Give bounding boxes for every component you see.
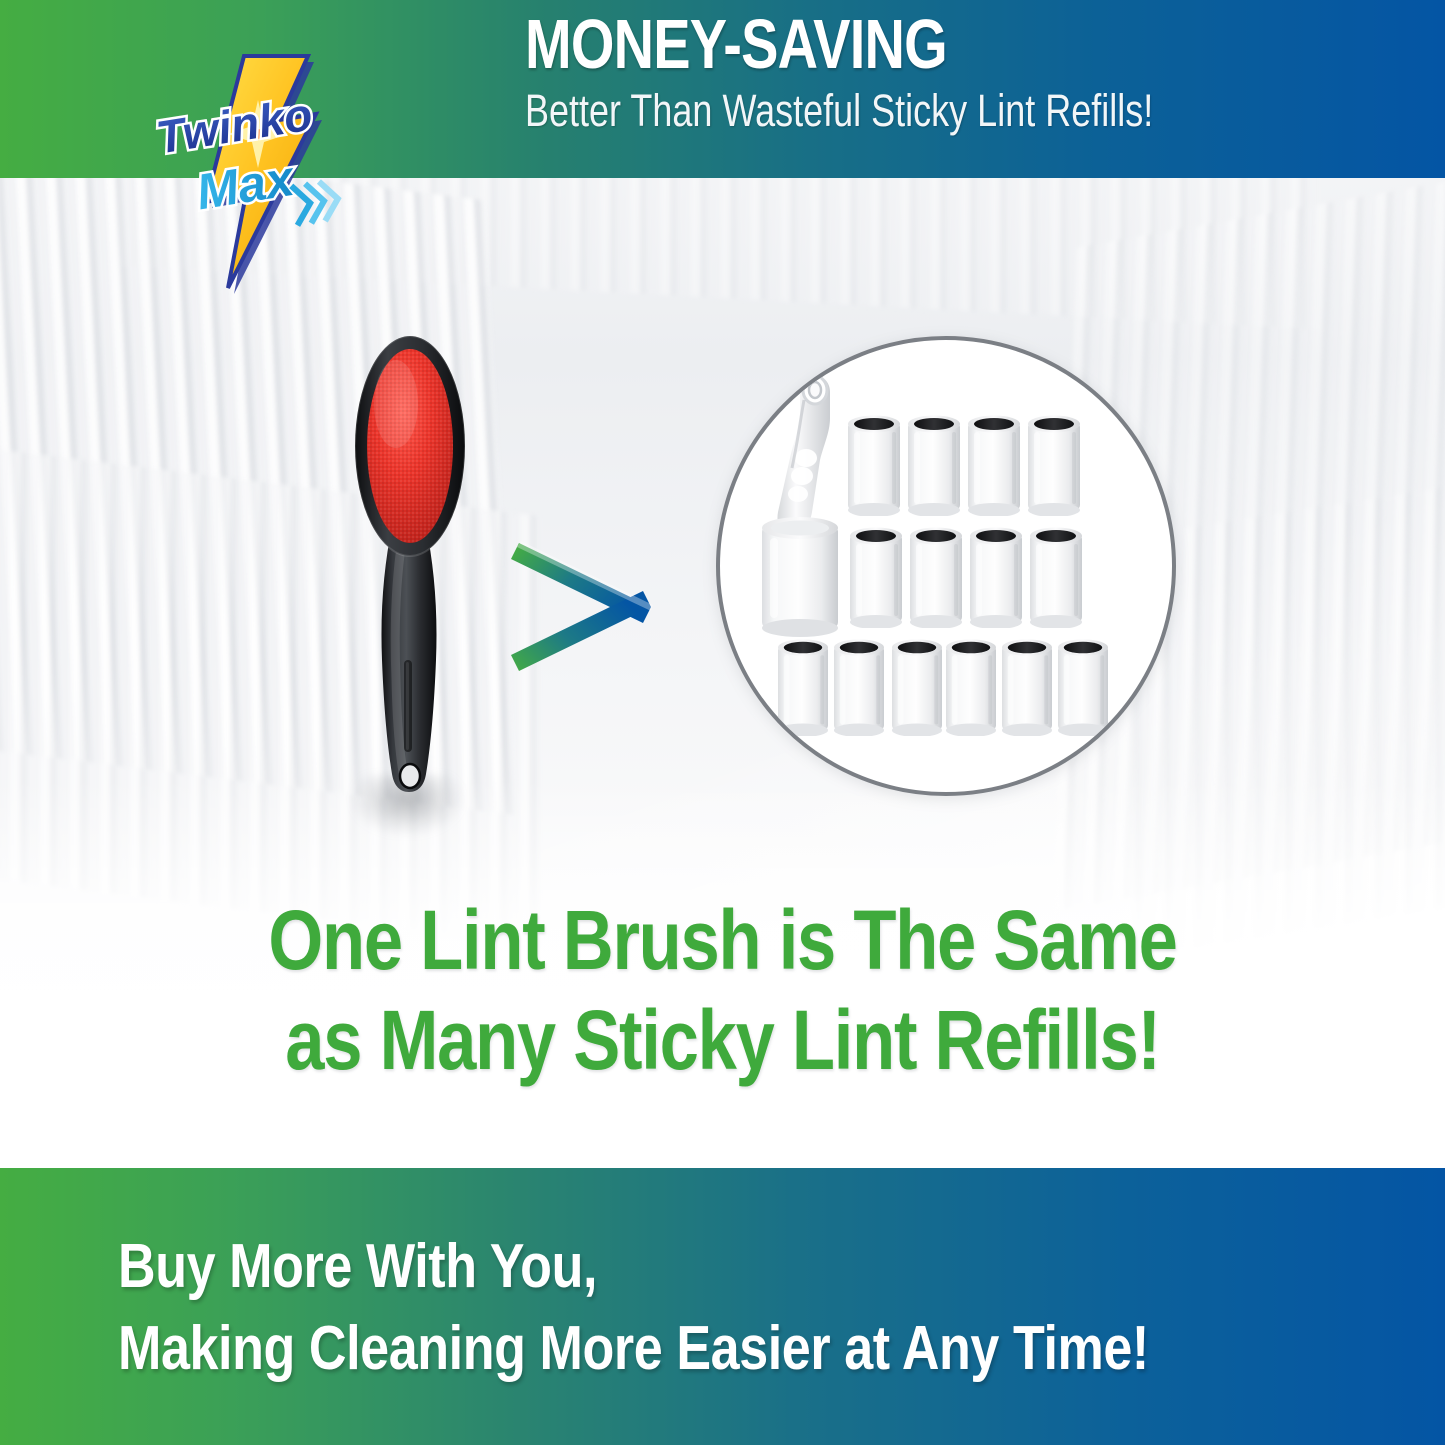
lint-refills-illustration [720, 340, 1172, 792]
refill-roll [946, 639, 996, 737]
brush-handle [381, 526, 436, 792]
cta-line-2: Making Cleaning More Easier at Any Time! [118, 1308, 1210, 1390]
refill-roll [834, 639, 884, 737]
logo-speed-streaks-icon [291, 179, 341, 225]
twinko-max-logo-icon: Twinko Max [140, 42, 365, 297]
refill-roll [970, 528, 1022, 630]
headline-line-2: as Many Sticky Lint Refills! [116, 990, 1330, 1090]
refill-roll [1030, 528, 1082, 630]
brand-logo: Twinko Max [140, 42, 365, 297]
refill-row-1 [848, 416, 1080, 518]
page-title: MONEY-SAVING [525, 8, 1181, 80]
refill-row-3 [778, 639, 1108, 737]
header-text-block: MONEY-SAVING Better Than Wasteful Sticky… [525, 8, 1345, 136]
refill-roll [1028, 416, 1080, 518]
refill-roll [910, 528, 962, 630]
headline-line-1: One Lint Brush is The Same [116, 890, 1330, 990]
refill-roll [1002, 639, 1052, 737]
refill-roll [778, 639, 828, 737]
refill-row-2 [850, 528, 1082, 630]
logo-brand-line2: Max [193, 150, 300, 221]
product-marketing-poster: MONEY-SAVING Better Than Wasteful Sticky… [0, 0, 1445, 1445]
refill-roll [1058, 639, 1108, 737]
refill-roll [848, 416, 900, 518]
page-subtitle: Better Than Wasteful Sticky Lint Refills… [525, 86, 1181, 136]
greater-than-chevron-icon [505, 515, 695, 700]
lint-brush-image [330, 330, 490, 810]
cta-line-1: Buy More With You, [118, 1226, 1210, 1308]
refill-roll [968, 416, 1020, 518]
refill-roll [850, 528, 902, 630]
refill-roll [908, 416, 960, 518]
lint-roller-with-handle [762, 376, 838, 637]
refills-circle-inset [716, 336, 1176, 796]
main-headline: One Lint Brush is The Same as Many Stick… [0, 890, 1445, 1090]
footer-cta-banner: Buy More With You, Making Cleaning More … [0, 1168, 1445, 1445]
refill-roll [892, 639, 942, 737]
footer-cta-text-block: Buy More With You, Making Cleaning More … [118, 1226, 1418, 1390]
